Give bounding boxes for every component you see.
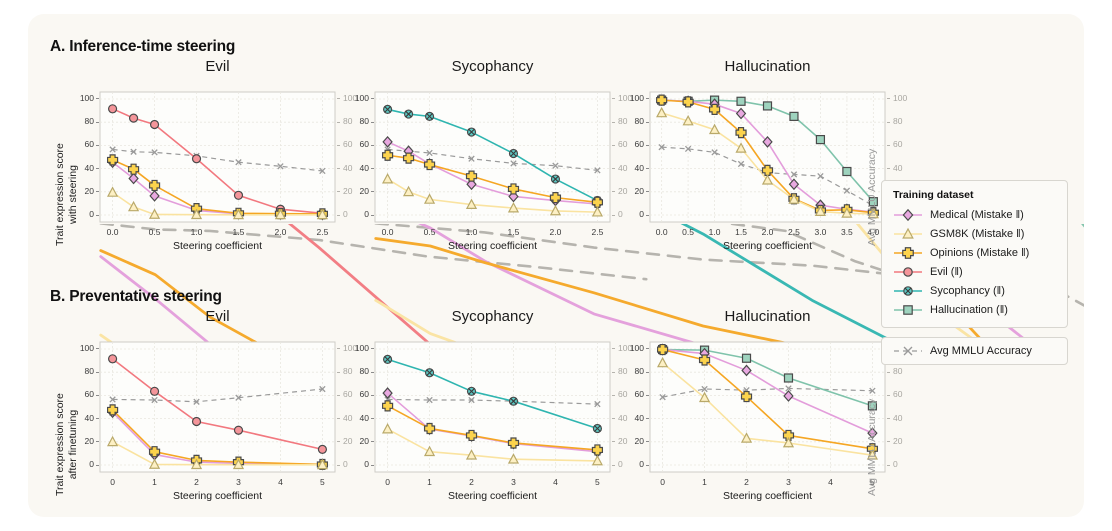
x-tick-label: 2.0 [539,227,571,237]
y2-tick [337,122,340,123]
y-tick-label: 40 [622,163,644,173]
legend-item-gsm8k: GSM8K (Mistake ‖) [893,224,1067,243]
y2-tick [612,441,615,442]
x-tick-label: 4 [814,477,846,487]
y-tick [371,145,374,146]
y-tick-label: 80 [72,366,94,376]
y-axis-label-b-line2: after finetuning [67,393,80,496]
y-tick [646,372,649,373]
y2-tick [337,441,340,442]
y2-tick [612,145,615,146]
y2-tick [337,98,340,99]
x-tick-label: 3 [222,477,254,487]
y-tick [646,348,649,349]
y-tick [371,348,374,349]
y2-axis-label-b-line1: Avg MMLU Accuracy [866,399,879,496]
figure-root: A. Inference-time steering B. Preventati… [0,0,1112,531]
y-tick [371,191,374,192]
x-tick-label: 0 [97,477,129,487]
plus-icon [893,246,923,260]
x-tick-label: 0.0 [97,227,129,237]
x-tick-label: 2.5 [581,227,613,237]
x-axis-label-B-evil: Steering coefficient [100,490,335,502]
y-tick-label: 80 [347,116,369,126]
y-tick-label: 100 [347,93,369,103]
y-tick [646,191,649,192]
legend-label: Medical (Mistake ‖) [930,209,1024,221]
y-tick [371,168,374,169]
plot-area-A-sycophancy [375,92,612,224]
y2-axis-label-b: Avg MMLU Accuracy [866,399,879,496]
y2-tick [337,465,340,466]
y2-tick [612,98,615,99]
xcircle-icon [893,284,923,298]
y2-tick [337,418,340,419]
y2-tick [612,348,615,349]
x-tick-label: 3 [497,477,529,487]
y2-tick [612,372,615,373]
y-tick [646,98,649,99]
y-tick [96,191,99,192]
y-axis-label-b: Trait expression scoreafter finetuning [54,393,80,496]
y2-tick [612,418,615,419]
y-tick-label: 20 [622,186,644,196]
legend-label-mmlu: Avg MMLU Accuracy [930,345,1032,357]
y-tick [371,395,374,396]
y-tick [96,122,99,123]
y-tick-label: 80 [622,366,644,376]
y2-tick [887,418,890,419]
y-tick-label: 100 [622,93,644,103]
y2-tick [337,348,340,349]
y2-tick [887,168,890,169]
panel-title-B-hallucination: Hallucination [650,308,885,325]
x-tick-label: 2 [731,477,763,487]
legend-item-sycophancy: Sycophancy (‖) [893,281,1067,300]
y-tick [96,418,99,419]
x-tick-label: 2.0 [264,227,296,237]
y2-tick [612,168,615,169]
y2-tick [337,395,340,396]
y-tick-label: 100 [72,343,94,353]
x-tick-label: 1.5 [222,227,254,237]
y-tick-label: 0 [622,459,644,469]
y2-tick [337,215,340,216]
diamond-icon [893,208,923,222]
x-tick-label: 3 [772,477,804,487]
y-tick-label: 80 [347,366,369,376]
y2-tick [612,465,615,466]
y2-tick [887,441,890,442]
y-tick [646,441,649,442]
y-axis-label-a-line1: Trait expression score [54,143,67,246]
y-tick [96,215,99,216]
y-axis-label-a: Trait expression scorewith steering [54,143,80,246]
legend-item-mmlu: Avg MMLU Accuracy [893,338,1067,364]
y-tick [646,145,649,146]
y-tick-label: 100 [347,343,369,353]
x-tick-label: 0 [372,477,404,487]
x-tick-label: 4 [539,477,571,487]
y2-tick [887,145,890,146]
y-tick-label: 60 [347,389,369,399]
y-tick-label: 60 [347,139,369,149]
y2-tick [887,372,890,373]
y2-tick [337,372,340,373]
y-tick-label: 0 [347,209,369,219]
y-tick-label: 40 [347,413,369,423]
y-tick [96,372,99,373]
x-tick-label: 2 [181,477,213,487]
legend-item-hallucination: Hallucination (‖) [893,300,1067,319]
y-tick-label: 40 [347,163,369,173]
circle-icon [893,265,923,279]
y-tick [96,145,99,146]
y-tick [371,98,374,99]
plot-area-B-hallucination [650,342,887,474]
x-axis-label-A-sycophancy: Steering coefficient [375,240,610,252]
y-tick-label: 100 [72,93,94,103]
y-axis-label-b-line1: Trait expression score [54,393,67,496]
x-tick-label: 0.0 [372,227,404,237]
plot-area-A-hallucination [650,92,887,224]
y-tick [96,168,99,169]
x-tick-label: 4 [264,477,296,487]
y2-tick-label: 80 [893,116,915,126]
legend-rows: Medical (Mistake ‖)GSM8K (Mistake ‖)Opin… [893,205,1067,319]
y-tick [371,441,374,442]
y-tick [371,372,374,373]
x-axis-label-A-hallucination: Steering coefficient [650,240,885,252]
x-tick-label: 5 [581,477,613,487]
y-tick-label: 20 [347,186,369,196]
panel-title-A-sycophancy: Sycophancy [375,58,610,75]
x-tick-label: 1 [139,477,171,487]
x-tick-label: 0 [647,477,679,487]
legend-mmlu: Avg MMLU Accuracy [881,337,1068,365]
y-tick [646,395,649,396]
section-title-b: B. Preventative steering [50,288,222,306]
y-tick [371,465,374,466]
y-axis-label-a-line2: with steering [67,143,80,246]
y-tick [96,465,99,466]
y2-tick [887,395,890,396]
y2-axis-label-a-line1: Avg MMLU Accuracy [866,149,879,246]
y-tick-label: 80 [622,116,644,126]
square-icon [893,303,923,317]
y2-axis-label-a: Avg MMLU Accuracy [866,149,879,246]
y2-tick-label: 40 [893,413,915,423]
y2-tick-label: 40 [893,163,915,173]
y-tick [96,98,99,99]
legend-item-evil: Evil (‖) [893,262,1067,281]
legend-title: Training dataset [893,189,1067,201]
plot-area-B-evil [100,342,337,474]
y2-tick [612,191,615,192]
legend-label: Opinions (Mistake ‖) [930,247,1029,259]
y-tick [371,418,374,419]
y-tick [646,418,649,419]
y2-tick [337,191,340,192]
y-tick [646,465,649,466]
y-tick [371,122,374,123]
y-tick [96,395,99,396]
legend-label: Evil (‖) [930,266,963,278]
y2-tick [612,215,615,216]
y-tick [371,215,374,216]
y2-tick-label: 60 [893,139,915,149]
section-title-a: A. Inference-time steering [50,38,235,56]
y2-tick [612,395,615,396]
y-tick-label: 60 [622,389,644,399]
x-axis-label-A-evil: Steering coefficient [100,240,335,252]
y2-tick [887,465,890,466]
x-tick-label: 1 [689,477,721,487]
triangle-icon [893,227,923,241]
x-tick-label: 0.5 [139,227,171,237]
x-tick-label: 2.5 [306,227,338,237]
y2-tick [337,145,340,146]
y2-tick-label: 100 [893,93,915,103]
y2-tick [887,98,890,99]
y2-tick [612,122,615,123]
y-tick-label: 0 [347,459,369,469]
legend-item-medical: Medical (Mistake ‖) [893,205,1067,224]
legend-label: Hallucination (‖) [930,304,1008,316]
y-tick-label: 60 [622,139,644,149]
y-tick [96,441,99,442]
y-tick-label: 20 [347,436,369,446]
x-tick-label: 1.0 [181,227,213,237]
legend-label: Sycophancy (‖) [930,285,1005,297]
y2-tick-label: 80 [893,366,915,376]
x-axis-label-B-hallucination: Steering coefficient [650,490,885,502]
y-tick-label: 0 [622,209,644,219]
y-tick [646,122,649,123]
x-tick-label: 0.5 [414,227,446,237]
figure-card: A. Inference-time steering B. Preventati… [28,14,1084,517]
panel-title-B-sycophancy: Sycophancy [375,308,610,325]
x-tick-label: 2 [456,477,488,487]
y-tick [646,215,649,216]
legend-training-dataset: Training dataset Medical (Mistake ‖)GSM8… [881,180,1068,328]
mmlu-line-icon [893,344,923,358]
y-tick [646,168,649,169]
y-tick-label: 40 [622,413,644,423]
y2-tick [887,122,890,123]
panel-title-A-evil: Evil [100,58,335,75]
y-tick-label: 100 [622,343,644,353]
x-tick-label: 1.5 [497,227,529,237]
x-tick-label: 1.0 [456,227,488,237]
y-tick-label: 20 [622,436,644,446]
legend-item-opinions: Opinions (Mistake ‖) [893,243,1067,262]
y-tick-label: 80 [72,116,94,126]
legend-label: GSM8K (Mistake ‖) [930,228,1024,240]
x-tick-label: 1 [414,477,446,487]
x-tick-label: 5 [306,477,338,487]
plot-area-B-sycophancy [375,342,612,474]
y2-tick [337,168,340,169]
panel-title-B-evil: Evil [100,308,335,325]
plot-area-A-evil [100,92,337,224]
y-tick [96,348,99,349]
x-axis-label-B-sycophancy: Steering coefficient [375,490,610,502]
panel-title-A-hallucination: Hallucination [650,58,885,75]
y2-tick-label: 60 [893,389,915,399]
y2-tick-label: 0 [893,459,915,469]
y2-tick-label: 20 [893,436,915,446]
